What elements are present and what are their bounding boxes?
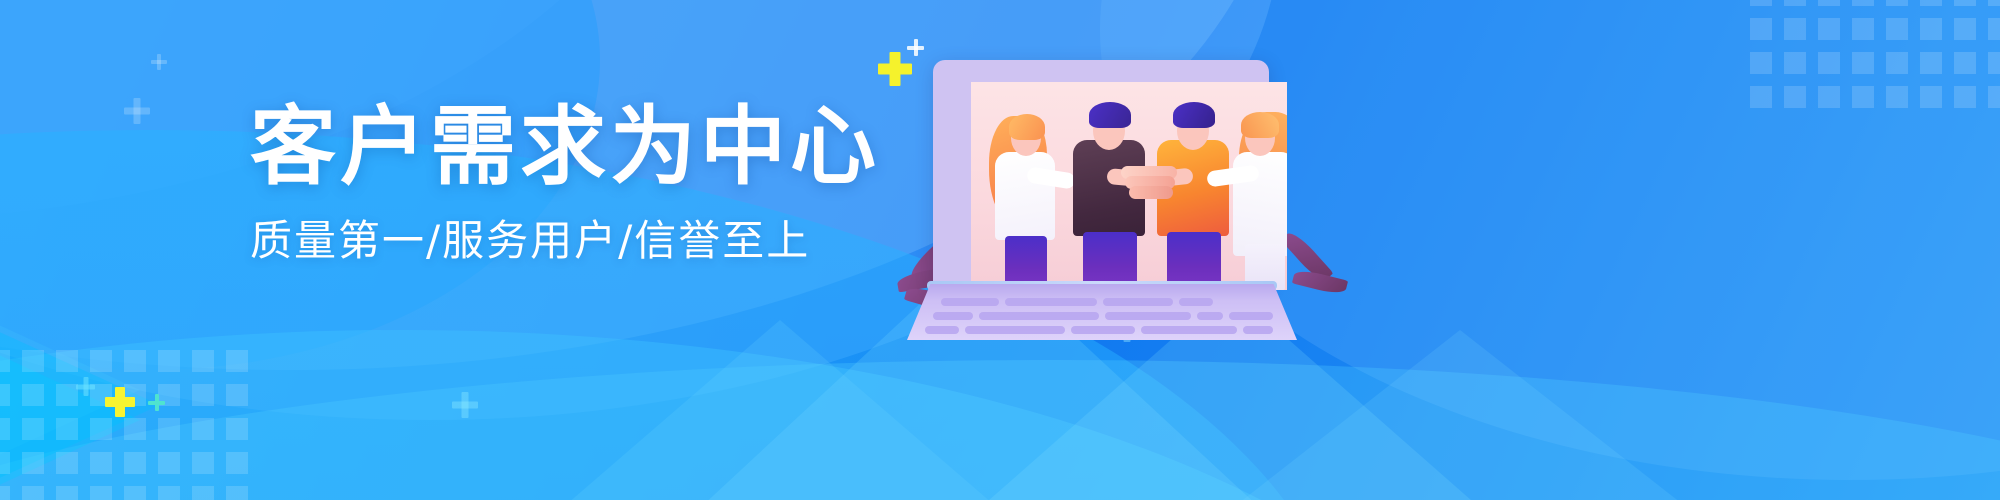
laptop-lid bbox=[933, 60, 1269, 288]
hair-front bbox=[1009, 114, 1045, 140]
keyboard-key bbox=[1179, 298, 1213, 306]
keyboard-row-2 bbox=[933, 312, 1273, 320]
grid-bottom-left bbox=[0, 350, 248, 500]
keyboard-key bbox=[1141, 326, 1237, 334]
torso-jacket bbox=[995, 152, 1055, 240]
keyboard-key bbox=[1197, 312, 1223, 320]
person-woman-left bbox=[985, 94, 1067, 290]
hair-front bbox=[1089, 102, 1131, 128]
keyboard-key bbox=[1105, 312, 1191, 320]
stacked-hands bbox=[1121, 166, 1179, 200]
keyboard-key bbox=[925, 326, 959, 334]
laptop-teamwork-illustration bbox=[905, 48, 1325, 348]
keyboard-row-3 bbox=[925, 326, 1273, 334]
keyboard-key bbox=[965, 326, 1065, 334]
keyboard-key bbox=[1229, 312, 1273, 320]
banner-headline: 客户需求为中心 bbox=[250, 104, 870, 192]
grid-top-right bbox=[1750, 0, 2000, 108]
promo-banner: 客户需求为中心 质量第一/服务用户/信誉至上 bbox=[0, 0, 2000, 500]
person-woman-right bbox=[1223, 94, 1287, 290]
keyboard-key bbox=[1243, 326, 1273, 334]
mountain-shape-far-right bbox=[1230, 330, 1690, 500]
plus-icon-cyan-bottom-left bbox=[148, 394, 165, 411]
keyboard-key bbox=[1103, 298, 1173, 306]
plus-icon-yellow-bottom-left bbox=[105, 387, 135, 417]
keyboard-key bbox=[979, 312, 1099, 320]
hair-front bbox=[1173, 102, 1215, 128]
banner-text-block: 客户需求为中心 质量第一/服务用户/信誉至上 bbox=[250, 104, 870, 264]
plus-icon-cyan-center bbox=[452, 392, 478, 418]
keyboard-key bbox=[941, 298, 999, 306]
plus-icon-soft-top bbox=[151, 54, 167, 70]
plus-icon-cyan-faint bbox=[76, 377, 95, 396]
keyboard-key bbox=[1071, 326, 1135, 334]
keyboard-key bbox=[933, 312, 973, 320]
laptop-screen bbox=[971, 82, 1287, 290]
banner-subheadline: 质量第一/服务用户/信誉至上 bbox=[250, 218, 870, 264]
plus-icon-soft-left bbox=[124, 98, 150, 124]
keyboard-row-1 bbox=[941, 298, 1213, 306]
hair-front bbox=[1241, 112, 1279, 138]
keyboard-key bbox=[1005, 298, 1097, 306]
